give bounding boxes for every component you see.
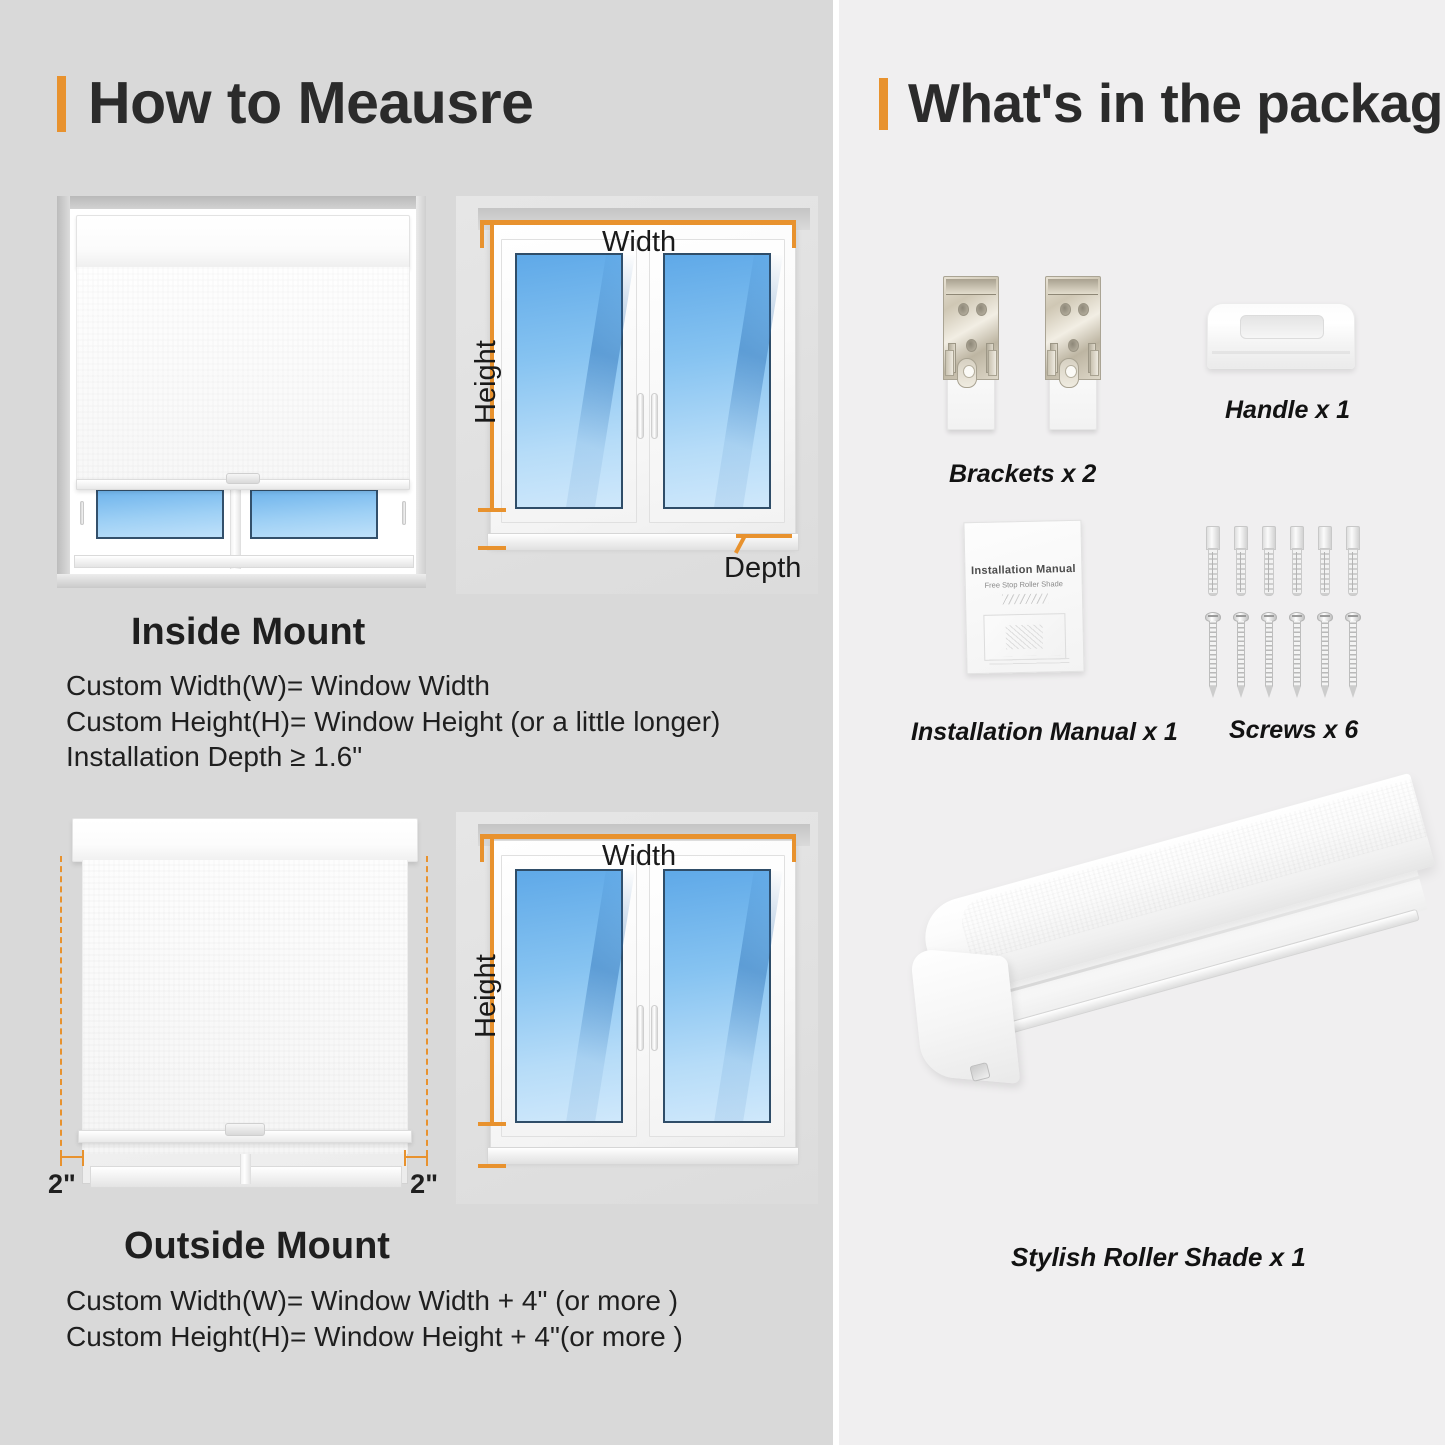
overhang-guide-right — [426, 856, 428, 1156]
diagram-glass-left — [515, 253, 623, 509]
window-latch-left — [80, 501, 84, 525]
diagram-glass-right — [663, 253, 771, 509]
recess-left-edge — [57, 196, 70, 588]
inside-mount-shade-illustration — [57, 196, 426, 588]
inside-mount-specs: Custom Width(W)= Window Width Custom Hei… — [66, 668, 720, 775]
height2-tick-base — [478, 1164, 506, 1168]
label-width: Width — [602, 226, 676, 259]
width2-tick-left — [480, 834, 484, 862]
bracket-2-hole-b — [1078, 303, 1089, 316]
diagram2-sill — [487, 1147, 799, 1165]
bracket-2-keyhole — [1059, 358, 1079, 388]
window-dimension-diagram-inside: Width Height Depth — [456, 196, 818, 594]
inside-spec-line-1: Custom Width(W)= Window Width — [66, 668, 720, 704]
glass-glare2-left-icon — [566, 871, 635, 1121]
overhang-tick-left-inner — [82, 1150, 84, 1166]
outside-mount-shade-illustration: 2" 2" — [42, 812, 442, 1202]
inside-spec-line-3: Installation Depth ≥ 1.6" — [66, 739, 720, 775]
outside-spec-line-1: Custom Width(W)= Window Width + 4" (or m… — [66, 1283, 683, 1319]
wall-anchor-icon-5 — [1317, 526, 1333, 596]
page-title-whats-in-package: What's in the package — [879, 76, 1445, 131]
overhang-tick-right — [426, 1150, 428, 1166]
infographic-root: How to Meausre — [0, 0, 1445, 1445]
brackets-label: Brackets x 2 — [949, 460, 1096, 489]
diagram2-sash-left — [501, 855, 637, 1137]
width-dimension-bar — [480, 220, 730, 225]
manual-cover-title: Installation Manual — [965, 563, 1081, 577]
bracket-icon-1 — [939, 272, 1003, 430]
shade-headrail — [76, 215, 410, 269]
screw-icon-3 — [1261, 612, 1277, 698]
screw-icon-6 — [1345, 612, 1361, 698]
manual-icon: Installation Manual Free Stop Roller Sha… — [963, 520, 1084, 674]
diagram2-handle-left-icon — [637, 1005, 644, 1051]
bracket-2-hole-a — [1060, 303, 1071, 316]
label2-height: Height — [470, 954, 503, 1038]
overhang-tick-left — [60, 1150, 62, 1166]
width2-dimension-bar-right — [728, 834, 796, 839]
outside-mount-title: Outside Mount — [124, 1225, 390, 1268]
recess-bottom-edge — [57, 574, 426, 588]
inside-spec-line-2: Custom Height(H)= Window Height (or a li… — [66, 704, 720, 740]
screws-image — [1205, 526, 1385, 698]
overhang-arrow-left — [60, 1156, 82, 1158]
width2-tick-right — [792, 834, 796, 862]
roller-shade-endcap — [910, 948, 1021, 1084]
outside-shade-fabric — [82, 860, 408, 1154]
recess-top-edge — [57, 196, 426, 209]
right-panel: What's in the package — [839, 0, 1445, 1445]
roller-shade-label: Stylish Roller Shade x 1 — [1011, 1242, 1306, 1273]
outside-shade-bottom-rail — [78, 1130, 412, 1143]
roller-shade-body — [911, 892, 1431, 1192]
overhang-arrow-right — [406, 1156, 428, 1158]
wall-anchor-icon-6 — [1345, 526, 1361, 596]
inner-window-area — [70, 209, 416, 574]
window-dimension-diagram-outside: Width Height — [456, 812, 818, 1204]
accent-bar-icon — [57, 76, 66, 132]
width2-dimension-bar — [480, 834, 730, 839]
wall-anchor-icon-3 — [1261, 526, 1277, 596]
diagram-sash-right — [649, 239, 785, 523]
accent-bar-right-icon — [879, 78, 888, 130]
width-dimension-bar-right — [728, 220, 796, 225]
heading-right-text: What's in the package — [908, 76, 1445, 131]
diagram-sash-left — [501, 239, 637, 523]
height-tick-bottom — [478, 508, 506, 512]
screw-icon-5 — [1317, 612, 1333, 698]
bracket-1-leg-left — [945, 350, 954, 376]
outside-shade-headrail — [72, 818, 418, 862]
glass-glare2-right-icon — [714, 871, 783, 1121]
outside-shade-pull-tab — [225, 1123, 265, 1136]
bracket-icon-2 — [1041, 272, 1105, 430]
shade-pull-tab — [226, 473, 260, 484]
bracket-1-hole-b — [976, 303, 987, 316]
wall-anchor-icon-4 — [1289, 526, 1305, 596]
roller-shade-icon — [911, 892, 1431, 1192]
glass-pane-right — [250, 489, 378, 539]
diagram2-glass-left — [515, 869, 623, 1123]
overhang-guide-left — [60, 856, 62, 1156]
outside-mount-specs: Custom Width(W)= Window Width + 4" (or m… — [66, 1283, 683, 1354]
inside-mount-title: Inside Mount — [131, 611, 365, 654]
diagram2-window-frame — [490, 840, 796, 1160]
bracket-2-lip — [1048, 279, 1098, 295]
diagram-window-frame — [490, 224, 796, 546]
width-tick-right — [792, 220, 796, 248]
window-sill — [74, 555, 414, 568]
bracket-1-leg-right — [988, 350, 997, 376]
screws-label: Screws x 6 — [1229, 716, 1358, 745]
glass-pane-left — [96, 489, 224, 539]
glass-glare-left-icon — [566, 255, 635, 507]
manual-cover-figure — [983, 613, 1066, 661]
bracket-1-hole-a — [958, 303, 969, 316]
heading-left-text: How to Meausre — [88, 74, 533, 133]
recess-right-edge — [416, 196, 426, 588]
height2-tick-bottom — [478, 1122, 506, 1126]
height-tick-base — [478, 546, 506, 550]
manual-cover-scribble — [1002, 593, 1048, 604]
bracket-1-keyhole — [957, 358, 977, 388]
label-depth: Depth — [724, 552, 801, 585]
diagram2-sash-right — [649, 855, 785, 1137]
shade-bottom-rail — [76, 479, 410, 490]
shade-fabric — [76, 267, 410, 485]
outside-spec-line-2: Custom Height(H)= Window Height + 4"(or … — [66, 1319, 683, 1355]
manual-label: Installation Manual x 1 — [911, 718, 1178, 747]
screw-icon-1 — [1205, 612, 1221, 698]
glass-glare-right-icon — [714, 255, 783, 507]
bracket-2-leg-left — [1047, 350, 1056, 376]
width-tick-left — [480, 220, 484, 248]
manual-cover-footer — [989, 655, 1069, 665]
page-title-how-to-measure: How to Meausre — [57, 74, 533, 133]
screw-icon-2 — [1233, 612, 1249, 698]
overhang-tick-right-inner — [404, 1150, 406, 1166]
handle-icon — [1207, 303, 1355, 369]
brackets-image — [939, 272, 1129, 437]
manual-cover-subtitle: Free Stop Roller Shade — [966, 579, 1082, 590]
left-panel: How to Meausre — [0, 0, 833, 1445]
window-latch-right — [402, 501, 406, 525]
screw-icon-4 — [1289, 612, 1305, 698]
label-height: Height — [470, 340, 503, 424]
diagram2-glass-right — [663, 869, 771, 1123]
overhang-label-right: 2" — [410, 1169, 438, 1200]
diagram-handle-right-icon — [651, 393, 658, 439]
bracket-1-lip — [946, 279, 996, 295]
handle-label: Handle x 1 — [1225, 396, 1350, 425]
diagram-handle-left-icon — [637, 393, 644, 439]
label2-width: Width — [602, 840, 676, 873]
diagram2-handle-right-icon — [651, 1005, 658, 1051]
overhang-label-left: 2" — [48, 1169, 76, 1200]
wall-anchor-icon-1 — [1205, 526, 1221, 596]
bracket-2-leg-right — [1090, 350, 1099, 376]
wall-anchor-icon-2 — [1233, 526, 1249, 596]
